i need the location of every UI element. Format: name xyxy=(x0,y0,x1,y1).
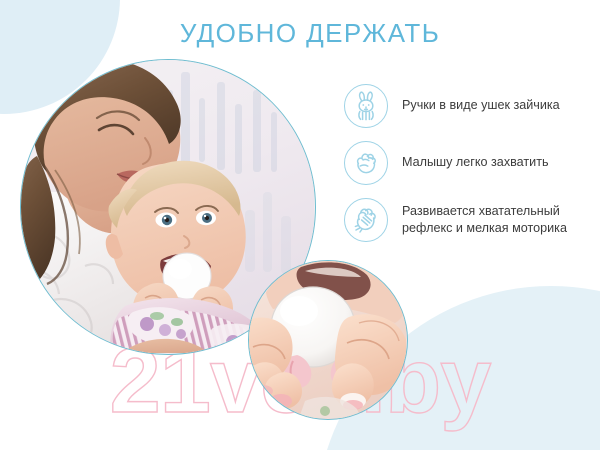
grasping-fist-icon xyxy=(344,141,388,185)
photo-baby-hands-gripping-teether xyxy=(248,260,408,420)
page-title: УДОБНО ДЕРЖАТЬ xyxy=(150,18,470,49)
feature-text-line: Малышу легко захватить xyxy=(402,154,549,171)
feature-text: Развивается хватательный рефлекс и мелка… xyxy=(402,203,567,238)
feature-text-line: Развивается хватательный xyxy=(402,203,567,220)
feature-text-line: рефлекс и мелкая моторика xyxy=(402,220,567,237)
feature-item-grasp-reflex-motor-skills: Развивается хватательный рефлекс и мелка… xyxy=(344,198,592,242)
feature-item-bunny-ears-handles: Ручки в виде ушек зайчика xyxy=(344,84,592,128)
open-hand-motion-icon xyxy=(344,198,388,242)
feature-item-easy-to-grasp: Малышу легко захватить xyxy=(344,141,592,185)
feature-text-line: Ручки в виде ушек зайчика xyxy=(402,97,560,114)
feature-text: Малышу легко захватить xyxy=(402,154,549,171)
promo-banner: 21vek.by xyxy=(0,0,600,450)
bunny-icon xyxy=(344,84,388,128)
feature-list: Ручки в виде ушек зайчика Малышу легко з… xyxy=(344,84,592,242)
feature-text: Ручки в виде ушек зайчика xyxy=(402,97,560,114)
